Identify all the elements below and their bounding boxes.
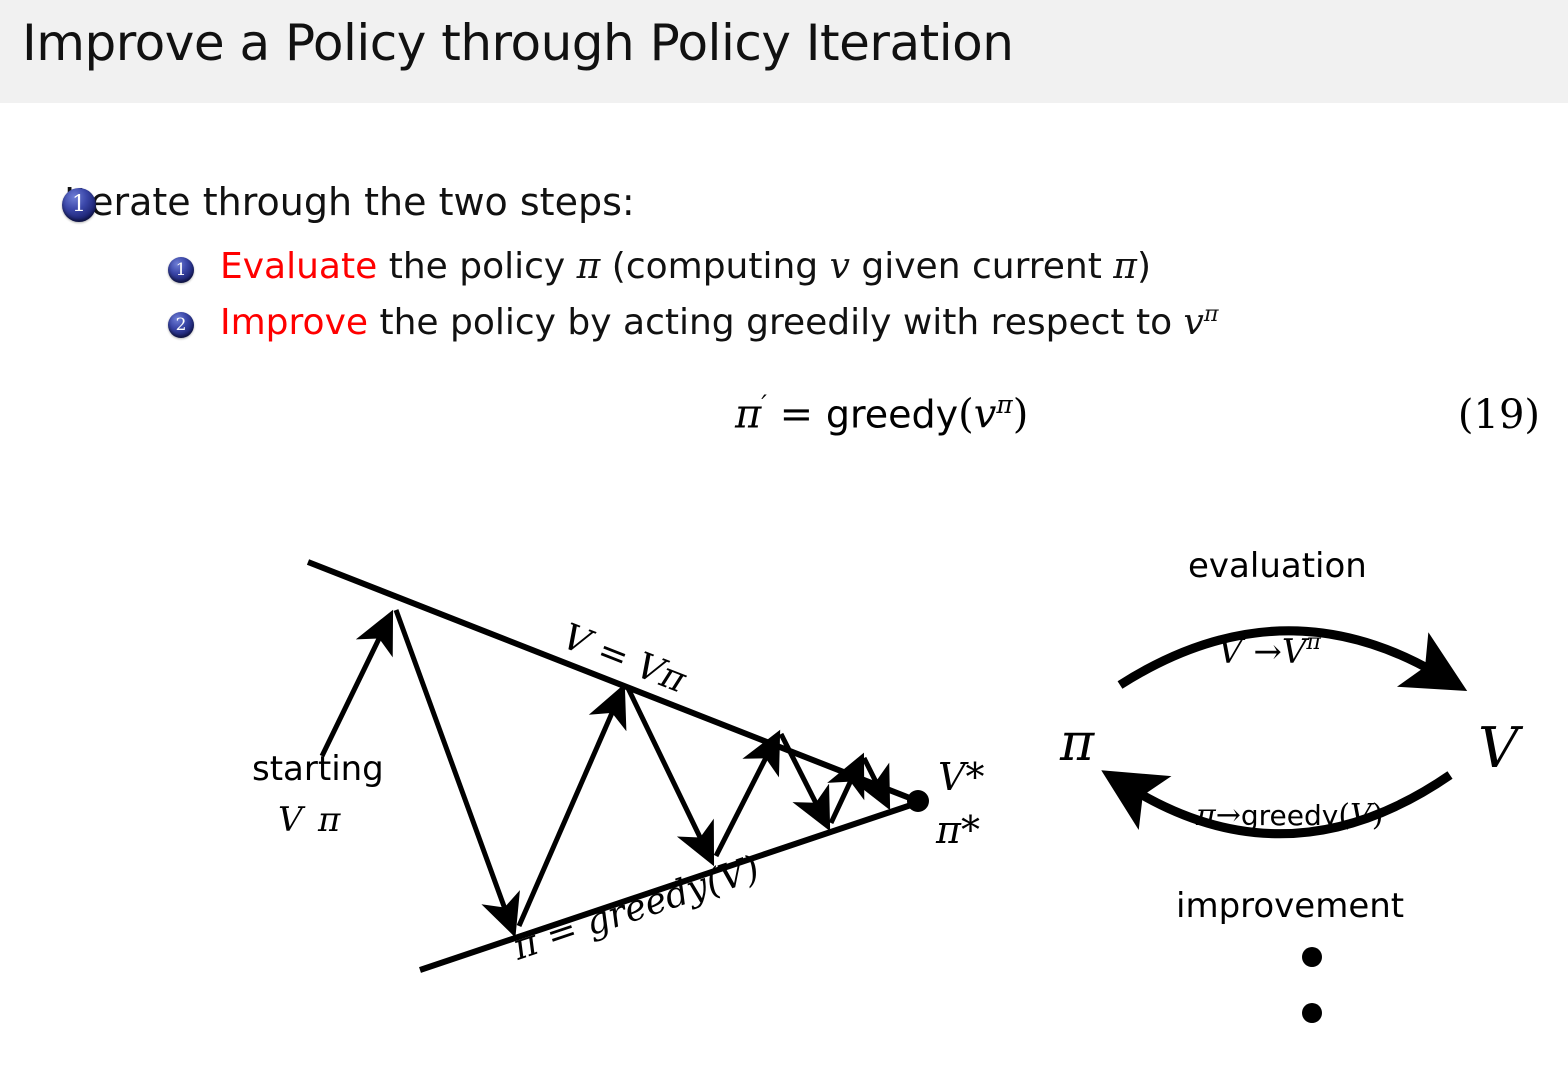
list-item-improve: Improve the policy by acting greedily wi… [220,301,1219,343]
arrow-start-to-peak1 [322,616,390,756]
policy-iteration-convergence-diagram: V = Vπ π = greedy(V) starting V π V* π* [230,540,990,1010]
cycle-node-pi: π [1059,713,1095,773]
equation-arg-v: v [974,391,997,437]
list-item-evaluate: Evaluate the policy π (computing v given… [220,246,1151,287]
improvement-arc-label-close: ) [1372,798,1384,833]
starting-label-line1: starting [252,749,384,789]
v-symbol-1: v [830,246,850,287]
arrow-valley1-to-peak2 [519,690,622,926]
convergence-point-dot [907,790,929,812]
equation-lhs-pi: π [735,391,761,437]
equation-row: π′ = greedy(vπ) (19) [0,390,1568,454]
equation-function-name: greedy [826,392,958,436]
equation-number: (19) [1458,392,1540,438]
equation-close-paren: ) [1013,391,1029,437]
list-item-level1-label: Iterate through the two steps: [64,180,635,224]
optimal-value-label: V* [938,755,984,799]
evaluation-arc-label-sup: π [1305,630,1321,655]
pi-superscript-1: π [1204,301,1219,327]
improve-text-a: the policy by acting greedily with respe… [368,302,1184,343]
arrow-peak1-to-valley1 [396,610,513,931]
bullet-list: 1 Iterate through the two steps: [0,176,1568,232]
improvement-label: improvement [1176,886,1404,926]
pi-symbol-1: π [577,246,601,287]
cycle-node-v: V [1478,716,1524,781]
list-item-level1: 1 Iterate through the two steps: [0,176,1568,232]
arrow-valley2-to-peak3 [716,736,777,856]
evaluate-text-d: ) [1137,246,1151,287]
bullet-badge-1: 1 [62,188,96,222]
evaluation-arc-label: V →Vπ [1218,630,1321,672]
improvement-arc-label-fn: greedy [1241,799,1338,832]
evaluate-text-c: given current [850,246,1113,287]
continuation-dot-2 [1302,1003,1322,1023]
sub-bullet-badge-1: 1 [168,257,194,283]
improvement-arc-label: π→greedy(V) [1195,798,1383,833]
pi-symbol-2: π [1113,246,1137,287]
upper-line-v-equals-vpi [308,562,920,802]
v-symbol-2: v [1184,302,1204,343]
improvement-arc-label-open: ( [1338,798,1350,833]
equation-prime: ′ [761,390,767,419]
starting-label-v: V [278,800,306,840]
starting-label-pi: π [317,800,341,840]
optimal-policy-label: π* [935,808,980,852]
equation-open-paren: ( [958,391,974,437]
equation-greedy: π′ = greedy(vπ) [735,390,1028,437]
evaluate-text-a: the policy [377,246,576,287]
equation-equals: = [780,391,814,437]
page-title: Improve a Policy through Policy Iteratio… [22,14,1013,72]
keyword-evaluate: Evaluate [220,246,377,287]
arrow-peak3-to-valley3 [781,734,827,825]
evaluation-improvement-cycle-diagram: evaluation V →Vπ π V π→greedy(V) improve… [1040,545,1560,1045]
keyword-improve: Improve [220,302,368,343]
continuation-dot-1 [1302,947,1322,967]
evaluation-arc-label-main: V →V [1218,632,1310,672]
equation-arg-superscript-pi: π [996,390,1012,419]
evaluation-label: evaluation [1188,546,1367,586]
improvement-arc-label-arrow: → [1216,798,1241,833]
improvement-arc-label-pi: π [1195,798,1217,833]
sub-bullet-badge-2: 2 [168,312,194,338]
evaluate-text-b: (computing [600,246,829,287]
